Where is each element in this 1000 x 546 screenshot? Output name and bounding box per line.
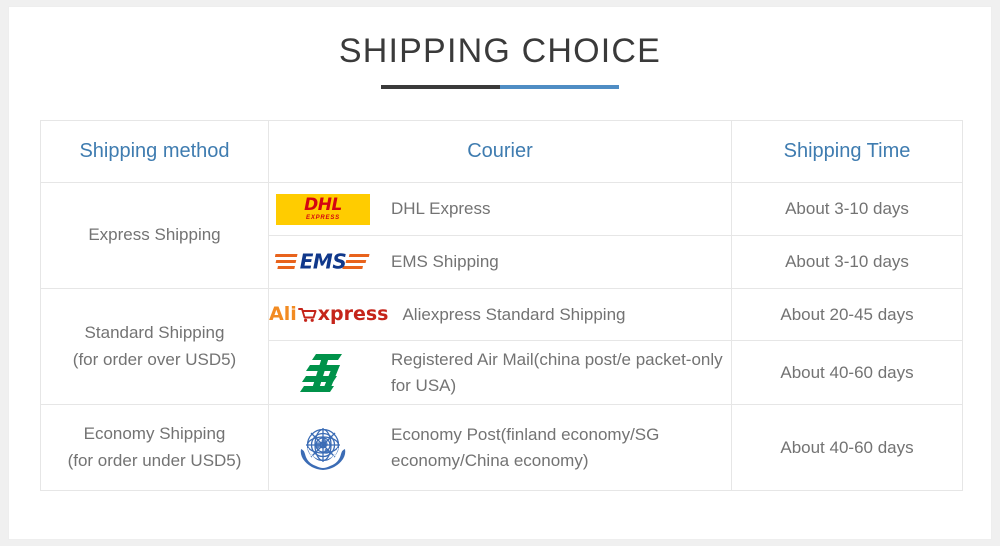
table-body: Express Shipping DHL EXPRESS DHL Express…: [41, 183, 963, 491]
column-header-shipping-time: Shipping Time: [732, 121, 963, 183]
courier-cell-china-post: Registered Air Mail(china post/e packet-…: [269, 341, 732, 405]
courier-cell-economy-post: Economy Post(finland economy/SG economy/…: [269, 405, 732, 491]
courier-cell-ems: EMS EMS Shipping: [269, 236, 732, 289]
title-underline-dark: [381, 85, 500, 89]
method-title: Standard Shipping: [85, 323, 225, 342]
aliexpress-logo: Ali xpress: [269, 305, 388, 324]
time-cell: About 20-45 days: [732, 289, 963, 341]
title-underline-blue: [500, 85, 619, 89]
table-row: Economy Shipping (for order under USD5): [41, 405, 963, 491]
method-subtitle: (for order under USD5): [41, 448, 268, 474]
method-title: Economy Shipping: [84, 424, 226, 443]
shipping-options-table: Shipping method Courier Shipping Time Ex…: [40, 120, 963, 491]
ems-logo: EMS: [269, 247, 377, 277]
method-title: Express Shipping: [88, 225, 220, 244]
courier-cell-aliexpress: Ali xpress Aliexpress Standard Shipping: [269, 289, 732, 341]
china-post-logo: [269, 350, 377, 396]
header-row: Shipping method Courier Shipping Time: [41, 121, 963, 183]
courier-label: Aliexpress Standard Shipping: [402, 302, 731, 328]
title-block: SHIPPING CHOICE: [9, 7, 991, 89]
shipping-choice-card: SHIPPING CHOICE Shipping method Courier …: [8, 6, 992, 540]
dhl-logo-word: DHL: [304, 197, 342, 214]
courier-label: DHL Express: [391, 196, 731, 222]
title-underline: [381, 85, 619, 89]
time-cell: About 3-10 days: [732, 236, 963, 289]
table-row: Standard Shipping (for order over USD5) …: [41, 289, 963, 341]
method-cell-standard: Standard Shipping (for order over USD5): [41, 289, 269, 405]
method-cell-express: Express Shipping: [41, 183, 269, 289]
ems-logo-word: EMS: [300, 250, 346, 274]
time-cell: About 40-60 days: [732, 405, 963, 491]
method-subtitle: (for order over USD5): [41, 347, 268, 373]
dhl-logo-sub: EXPRESS: [306, 215, 340, 221]
courier-label: Economy Post(finland economy/SG economy/…: [391, 422, 731, 473]
dhl-logo: DHL EXPRESS: [269, 194, 377, 225]
aliexpress-logo-xpress: xpress: [318, 305, 389, 324]
table-header: Shipping method Courier Shipping Time: [41, 121, 963, 183]
column-header-shipping-method: Shipping method: [41, 121, 269, 183]
courier-label: Registered Air Mail(china post/e packet-…: [391, 347, 731, 398]
page-title: SHIPPING CHOICE: [9, 32, 991, 71]
courier-label: EMS Shipping: [391, 249, 731, 275]
time-cell: About 3-10 days: [732, 183, 963, 236]
time-cell: About 40-60 days: [732, 341, 963, 405]
courier-cell-dhl: DHL EXPRESS DHL Express: [269, 183, 732, 236]
table-row: Express Shipping DHL EXPRESS DHL Express…: [41, 183, 963, 236]
aliexpress-logo-ali: Ali: [269, 305, 297, 324]
column-header-courier: Courier: [269, 121, 732, 183]
shopping-cart-icon: [298, 306, 317, 323]
method-cell-economy: Economy Shipping (for order under USD5): [41, 405, 269, 491]
un-logo: [269, 420, 377, 476]
